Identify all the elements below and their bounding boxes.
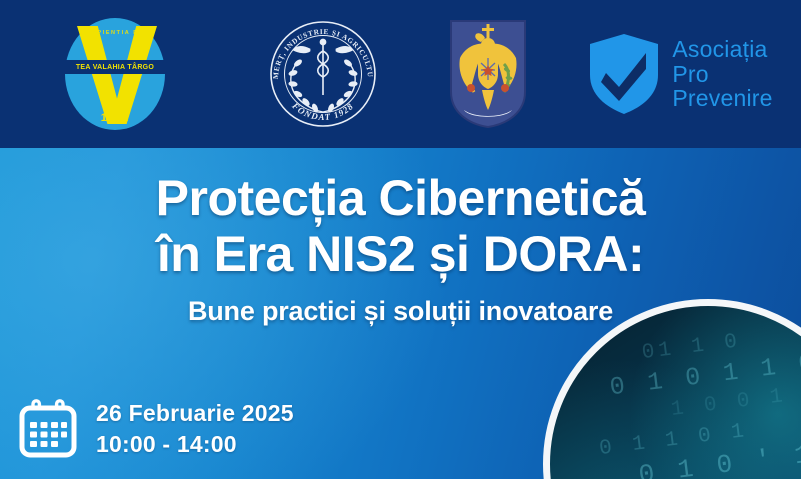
valahia-university-logo: SAPIENTIA ET TEA VALAHIA TÂRGO 1992 (57, 16, 173, 132)
event-title-line-2: în Era NIS2 și DORA: (0, 226, 801, 282)
event-date: 26 Februarie 2025 (96, 398, 294, 428)
event-time: 10:00 - 14:00 (96, 429, 294, 459)
svg-text:FONDAT 1928: FONDAT 1928 (289, 100, 355, 122)
event-date-block: 26 Februarie 2025 10:00 - 14:00 (18, 398, 294, 459)
pro-prevenire-line-3: Prevenire (672, 86, 772, 110)
event-subtitle: Bune practici și soluții inovatoare (0, 296, 801, 327)
caduceus-wreath-icon: CAMERA DE COMERȚ, INDUSTRIE ȘI AGRICULTU… (262, 13, 384, 135)
valahia-name-text: TEA VALAHIA TÂRGO (76, 64, 154, 71)
headline-block: Protecția Cibernetică în Era NIS2 și DOR… (0, 170, 801, 327)
pro-prevenire-wordmark: Asociația Pro Prevenire (672, 37, 772, 110)
romanian-coat-of-arms-logo (448, 18, 528, 130)
pro-prevenire-line-2: Pro (672, 62, 772, 86)
valahia-name-band: TEA VALAHIA TÂRGO (57, 60, 173, 74)
calendar-icon (18, 399, 78, 459)
event-title-line-1: Protecția Cibernetică (0, 170, 801, 226)
logo-slot-pro-prevenire: Asociația Pro Prevenire (560, 33, 801, 115)
chamber-of-commerce-logo: CAMERA DE COMERȚ, INDUSTRIE ȘI AGRICULTU… (262, 13, 384, 135)
valahia-year: 1992 (57, 112, 173, 124)
romanian-eagle-shield-icon (448, 18, 528, 130)
event-poster: SAPIENTIA ET TEA VALAHIA TÂRGO 1992 (0, 0, 801, 479)
logo-slot-valahia: SAPIENTIA ET TEA VALAHIA TÂRGO 1992 (0, 16, 230, 132)
poster-body: 01 1 0 0 1 0 1 1 0 1 0 0 1 0 1 1 0 1 0 1… (0, 148, 801, 479)
logo-slot-chamber: CAMERA DE COMERȚ, INDUSTRIE ȘI AGRICULTU… (230, 13, 415, 135)
valahia-top-text: SAPIENTIA ET (57, 30, 173, 36)
pro-prevenire-line-1: Asociația (672, 37, 772, 61)
shield-check-icon (588, 33, 660, 115)
event-datetime-text: 26 Februarie 2025 10:00 - 14:00 (96, 398, 294, 459)
partner-logo-band: SAPIENTIA ET TEA VALAHIA TÂRGO 1992 (0, 0, 801, 148)
logo-slot-coat-of-arms (415, 18, 560, 130)
asociatia-pro-prevenire-logo: Asociația Pro Prevenire (588, 33, 772, 115)
